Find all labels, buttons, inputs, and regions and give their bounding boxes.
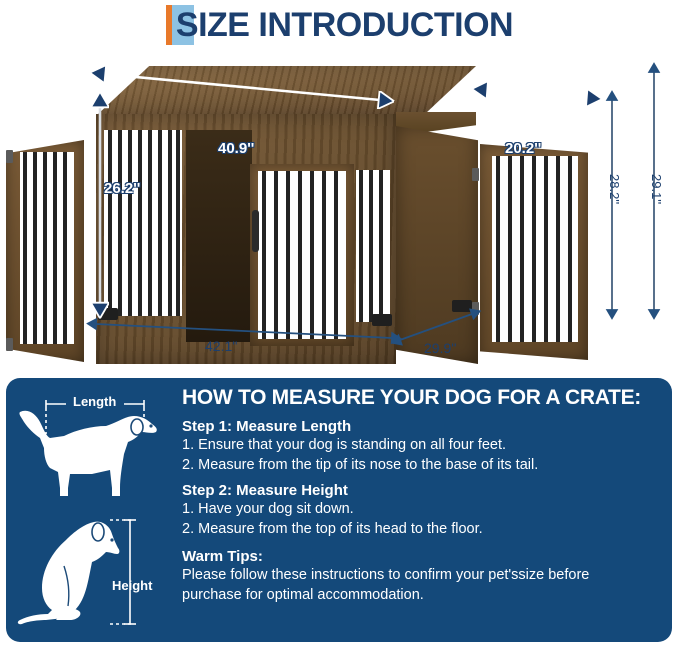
- dimension-label-top-width: 40.9'': [218, 140, 254, 157]
- step2-line2: 2. Measure from the top of its head to t…: [182, 519, 668, 539]
- infographic-page: SIZE INTRODUCTION: [0, 0, 679, 648]
- warm-tips-line2: purchase for optimal accommodation.: [182, 585, 668, 605]
- step2-heading: Step 2: Measure Height: [182, 482, 668, 499]
- dimension-label-overall-depth: 29.9'': [424, 340, 457, 356]
- guide-title: HOW TO MEASURE YOUR DOG FOR A CRATE:: [182, 386, 668, 410]
- dimension-overlay: [0, 52, 679, 370]
- sitting-dog-illustration: [6, 506, 174, 638]
- measure-guide-panel: Length Heigh: [6, 378, 672, 642]
- warm-tips-heading: Warm Tips:: [182, 548, 668, 565]
- warm-tips-line1: Please follow these instructions to conf…: [182, 565, 668, 585]
- step1-heading: Step 1: Measure Length: [182, 418, 668, 435]
- page-title: SIZE INTRODUCTION: [0, 2, 679, 48]
- step1-line2: 2. Measure from the tip of its nose to t…: [182, 455, 668, 475]
- standing-dog-measure-label: Length: [73, 394, 116, 409]
- dimension-label-overall-width: 42.1'': [205, 338, 238, 354]
- product-photo: 40.9'' 20.2'' 26.2'' 28.2'' 29.1'' 42.1'…: [0, 52, 679, 370]
- dimension-label-overall-height: 29.1'': [649, 174, 664, 204]
- dog-illustrations-column: Length Heigh: [6, 378, 174, 642]
- dimension-label-right-door-width: 20.2'': [505, 140, 541, 157]
- page-title-text: SIZE INTRODUCTION: [174, 5, 513, 45]
- sitting-dog-measure-label: Height: [112, 578, 152, 593]
- dimension-label-body-height: 28.2'': [607, 174, 622, 204]
- dimension-label-inner-height: 26.2'': [104, 180, 140, 197]
- guide-content: HOW TO MEASURE YOUR DOG FOR A CRATE: Ste…: [182, 386, 668, 605]
- step1-line1: 1. Ensure that your dog is standing on a…: [182, 435, 668, 455]
- step2-line1: 1. Have your dog sit down.: [182, 499, 668, 519]
- title-accent-bars: SIZE INTRODUCTION: [166, 5, 513, 45]
